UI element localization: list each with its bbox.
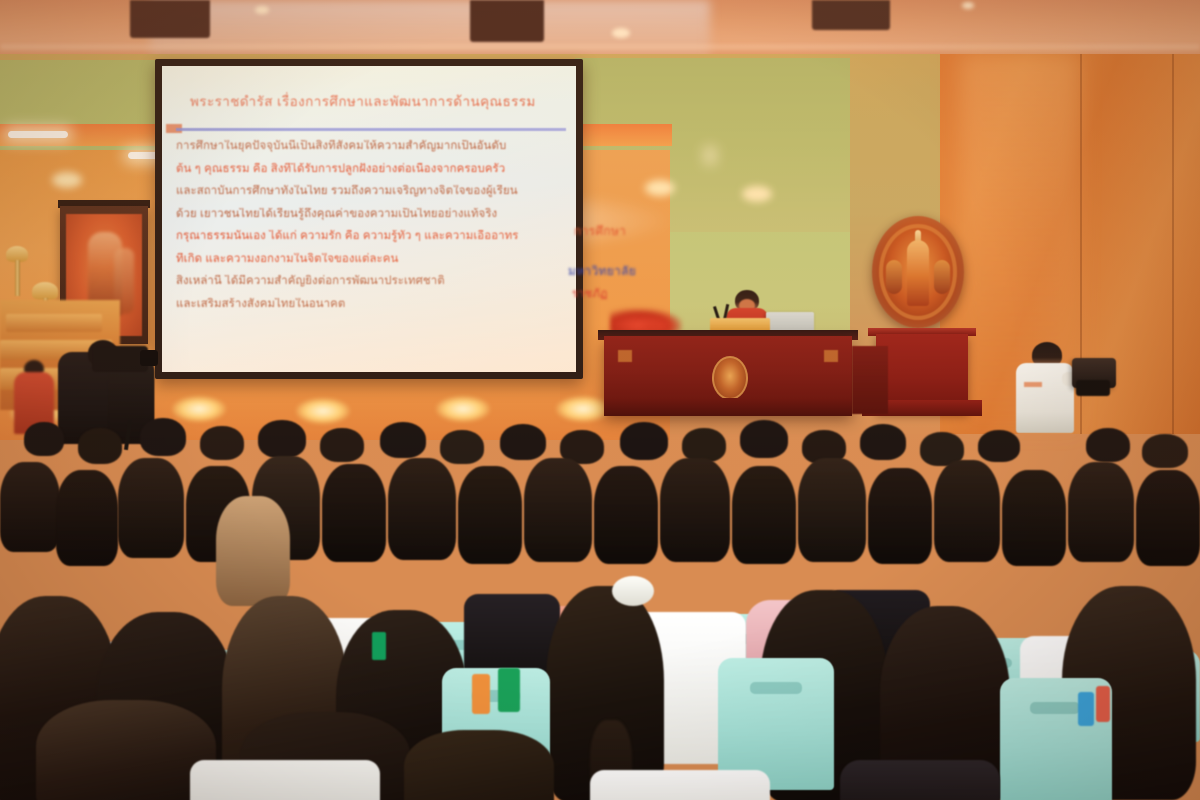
slide-title: พระราชดำรัส เรื่องการศึกษาและพัฒนาการด้า… [190,90,556,112]
front-row-hair [404,730,554,800]
ceiling-light [612,28,630,38]
audience-hair [56,470,118,566]
audience-head [24,422,64,456]
audience-hair [1136,470,1200,566]
audience-hair [458,466,522,564]
audience-head [320,428,364,462]
projection-screen: พระราชดำรัส เรื่องการศึกษาและพัฒนาการด้า… [162,66,576,372]
ceiling-light-strip [0,44,1200,50]
camera-lens [1076,380,1110,396]
auditorium-photograph: พระราชดำรัส เรื่องการศึกษาและพัฒนาการด้า… [0,0,1200,800]
ceiling-panel [812,0,890,30]
audience-hair [798,458,866,562]
student-uniform [590,770,770,800]
camera-lens-hood [140,350,158,366]
audience-head [978,430,1020,462]
altar-tier [6,314,102,332]
downlight [742,186,772,202]
attendee-blazer [840,760,1000,800]
front-row-hair [36,700,216,800]
slide-divider [176,128,566,131]
book-item [472,674,490,714]
slide-line: กรุณาธรรมนั้นเอง ได้แก่ ความรัก คือ ความ… [176,230,564,242]
ceiling-panel [130,0,210,38]
audience-hair [388,458,456,560]
audience-hair [868,468,932,564]
slide-line: ด้วย เยาวชนไทยได้เรียนรู้ถึงคุณค่าของควา… [176,208,564,220]
desk-badge [824,350,838,362]
chair-slot [1030,702,1080,714]
chair-slot [750,682,802,694]
audience-head [1086,428,1130,462]
audience-head [500,424,546,460]
audience-head [1142,434,1188,468]
ceiling-panel [470,0,544,42]
audience-head [740,420,788,458]
audience-hair [732,466,796,564]
audience-head [78,428,122,464]
institution-emblem [872,216,964,328]
audience [0,400,1200,800]
audience-hair [934,460,1000,562]
banner-line-3: ราชภัฏ [572,284,608,302]
slide-line: และเสริมสร้างสังคมไทยในอนาคต [176,298,564,310]
ceiling-light [255,6,269,14]
ceiling-light [962,2,974,9]
audience-head [258,420,306,458]
slide-line: การศึกษาในยุคปัจจุบันนี้เป็นสิ่งที่สังคม… [176,140,564,152]
book-item [498,668,520,712]
desk-emblem [712,356,748,400]
audience-head [620,422,668,460]
fluorescent-tube [8,131,68,138]
audience-head [682,428,726,462]
book-item [1096,686,1110,722]
audience-hair [1002,470,1066,566]
audience-head [380,422,426,458]
wall-seam [1172,54,1174,434]
stand-pole [15,260,20,296]
projection-screen-frame: พระราชดำรัส เรื่องการศึกษาและพัฒนาการด้า… [155,59,583,379]
hair-scrunchie [612,576,654,606]
audience-hair-light [216,496,290,606]
shirt-logo [1024,382,1042,387]
audience-hair [1068,462,1134,562]
slide-body: การศึกษาในยุคปัจจุบันนี้เป็นสิ่งที่สังคม… [176,140,564,320]
slide-line: ต้น ๆ คุณธรรม คือ สิ่งที่ได้รับการปลูกฝั… [176,163,564,175]
desk-badge [618,350,632,362]
audience-hair [322,464,386,562]
audience-hair [0,462,60,552]
audience-head [860,424,906,460]
banner-line-1: การศึกษา [574,222,626,241]
audience-head [140,418,186,456]
emblem-core [907,240,929,306]
audience-hair [594,466,658,564]
emblem-wing-left [886,260,902,294]
book-item [372,632,386,660]
slide-line: และสถาบันการศึกษาทั้งในไทย รวมถึงความเจร… [176,185,564,197]
downlight [52,172,82,188]
audience-hair [118,458,184,558]
audience-hair [660,458,730,562]
banner-line-2: มหาวิทยาลัย [568,262,636,281]
audience-head [200,426,244,460]
book-item [1078,692,1094,726]
student-uniform [190,760,380,800]
audience-head [440,430,484,464]
emblem-wing-right [934,260,950,294]
audience-hair [524,458,592,562]
slide-line: สิ่งเหล่านี้ ได้มีความสำคัญยิ่งต่อการพัฒ… [176,275,564,287]
slide-line: ที่เกิด และความงอกงามในจิตใจของแต่ละคน [176,253,564,265]
